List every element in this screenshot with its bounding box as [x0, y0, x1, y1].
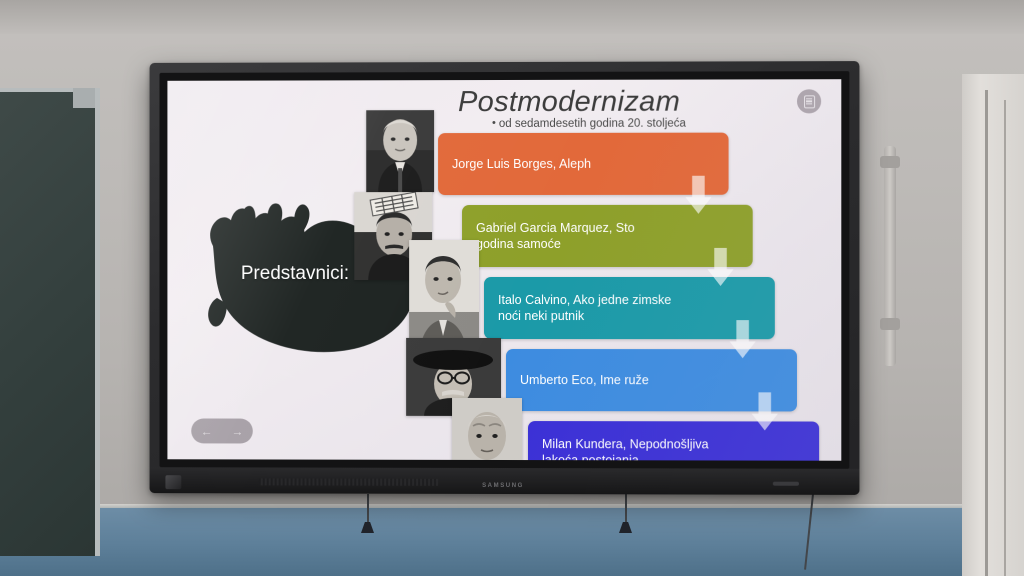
prev-slide-icon[interactable]: ← [201, 425, 213, 437]
hanging-cable-right [625, 494, 627, 526]
display-logo-badge [165, 475, 181, 489]
door-frame [962, 74, 1024, 576]
ceiling-shadow [0, 0, 1024, 34]
list-item-label: Italo Calvino, Ako jedne zimske noći nek… [484, 292, 681, 324]
chalkboard [0, 88, 100, 556]
slide-navigation[interactable]: ← → [191, 418, 253, 443]
next-slide-icon[interactable]: → [231, 425, 243, 437]
document-line [806, 98, 812, 99]
display-brand-label: SAMSUNG [482, 483, 524, 489]
list-item-label: Jorge Luis Borges, Aleph [438, 156, 601, 172]
wall-conduit [884, 146, 896, 366]
list-item[interactable]: Milan Kundera, Nepodnošljiva lakoća post… [528, 421, 819, 461]
document-line [806, 103, 812, 104]
conduit-clip-bottom [880, 318, 900, 330]
document-line [806, 101, 812, 102]
bullet-icon: • [492, 117, 496, 129]
chalkboard-frame-corner [73, 88, 95, 108]
ir-receiver [773, 482, 799, 486]
display-bottom-bezel: SAMSUNG [150, 467, 860, 495]
list-item-label: Milan Kundera, Nepodnošljiva lakoća post… [528, 436, 719, 461]
presentation-slide[interactable]: Postmodernizam •od sedamdesetih godina 2… [167, 79, 841, 461]
page-subtitle-text: od sedamdesetih godina 20. stoljeća [499, 118, 686, 130]
door-groove-secondary [1004, 100, 1006, 576]
page-title: Postmodernizam [458, 86, 680, 119]
kundera-portrait [452, 398, 522, 461]
list-item[interactable]: Umberto Eco, Ime ruže [506, 349, 797, 411]
borges-portrait [366, 110, 434, 192]
section-label: Predstavnici: [241, 263, 349, 285]
page-subtitle: •od sedamdesetih godina 20. stoljeća [492, 117, 686, 130]
lower-wall-wainscot [0, 508, 1024, 576]
interactive-display[interactable]: Postmodernizam •od sedamdesetih godina 2… [150, 61, 860, 495]
hanging-cable-left [367, 494, 369, 526]
list-item-label: Gabriel Garcia Marquez, Sto godina samoć… [462, 220, 645, 252]
door-groove [985, 90, 988, 576]
list-item[interactable]: Gabriel Garcia Marquez, Sto godina samoć… [462, 205, 753, 267]
list-item[interactable]: Italo Calvino, Ako jedne zimske noći nek… [484, 277, 775, 339]
conduit-clip-top [880, 156, 900, 168]
document-menu-icon[interactable] [797, 89, 821, 113]
document-glyph [804, 95, 815, 108]
list-item-label: Umberto Eco, Ime ruže [506, 372, 659, 388]
list-item[interactable]: Jorge Luis Borges, Aleph [438, 133, 729, 195]
display-speaker-grille [259, 478, 438, 485]
